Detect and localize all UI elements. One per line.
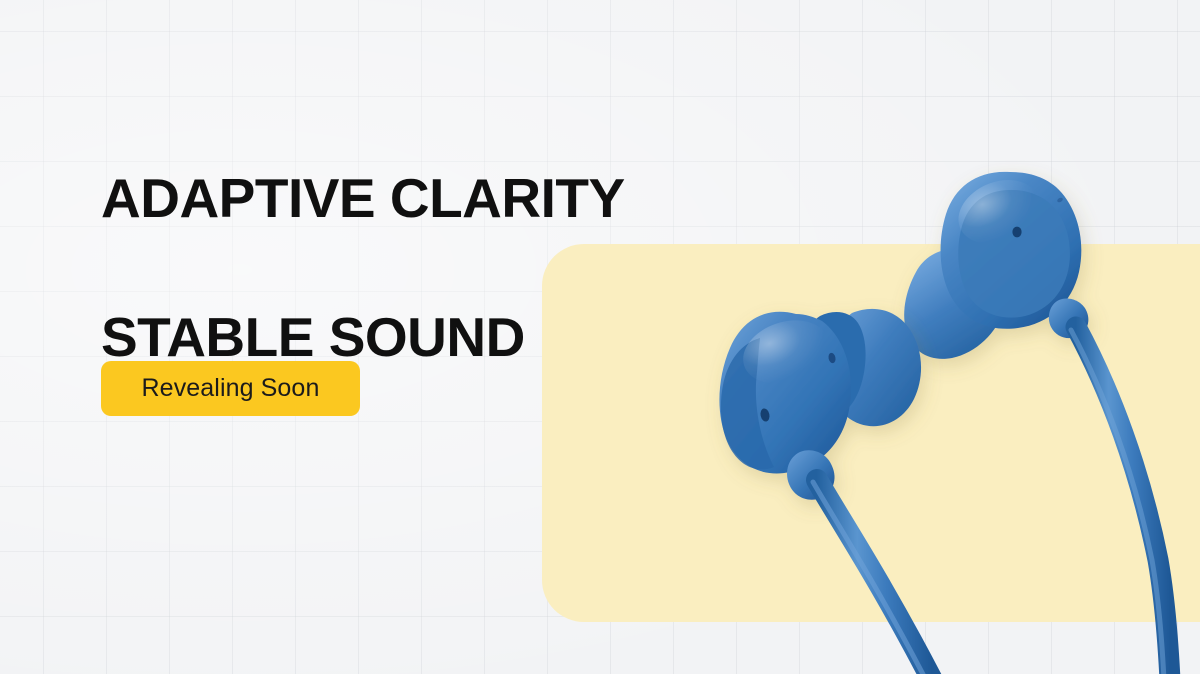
headline-line-1: ADAPTIVE CLARITY [101, 164, 801, 234]
promo-banner: ADAPTIVE CLARITY STABLE SOUND Revealing … [0, 0, 1200, 674]
status-badge-label: Revealing Soon [142, 376, 320, 401]
status-badge[interactable]: Revealing Soon [101, 361, 360, 416]
vent-hole [1056, 197, 1063, 203]
mic-hole [1012, 227, 1021, 238]
